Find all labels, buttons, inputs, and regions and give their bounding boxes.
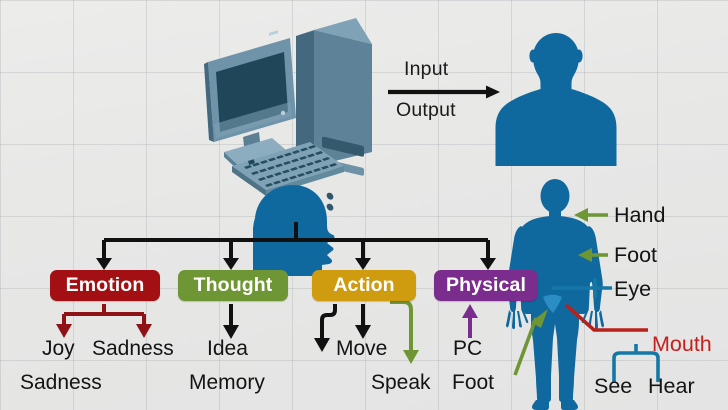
- desktop-computer-icon: [204, 17, 372, 211]
- leaf-idea: Idea: [207, 337, 248, 361]
- diagram-canvas: Input Output Emotion Thought Action Phys…: [0, 0, 728, 410]
- head-profile-silhouette-icon: [253, 185, 335, 276]
- output-label: Output: [396, 99, 456, 122]
- leaf-foot-left: Foot: [452, 371, 494, 395]
- connector-emotion-fork: [64, 304, 144, 324]
- leaf-joy: Joy: [42, 337, 75, 361]
- leaf-move: Move: [336, 337, 387, 361]
- connector-action-left: [322, 304, 335, 338]
- body-label-mouth: Mouth: [652, 332, 712, 357]
- connector-action-left-arrowhead: [314, 338, 330, 352]
- input-label: Input: [404, 58, 448, 81]
- body-label-see: See: [594, 374, 632, 399]
- body-label-hear: Hear: [648, 374, 695, 399]
- connector-action-speak: [390, 302, 411, 350]
- connector-emotion-arrowheads: [56, 324, 152, 338]
- io-arrow-icon: [388, 86, 500, 99]
- category-chip-physical[interactable]: Physical: [434, 270, 538, 301]
- body-label-eye: Eye: [614, 277, 651, 302]
- category-chip-emotion[interactable]: Emotion: [50, 270, 160, 301]
- leaf-speak: Speak: [371, 371, 431, 395]
- leaf-memory: Memory: [189, 371, 265, 395]
- category-chip-thought[interactable]: Thought: [178, 270, 288, 301]
- body-label-foot: Foot: [614, 243, 657, 268]
- body-label-hand: Hand: [614, 203, 665, 228]
- leaf-pc: PC: [453, 337, 482, 361]
- connector-action-speak-arrowhead: [403, 350, 419, 364]
- connector-pc-arrowhead: [462, 304, 478, 318]
- leaf-sadness-bottom: Sadness: [20, 371, 102, 395]
- leaf-sadness-top: Sadness: [92, 337, 174, 361]
- category-chip-action[interactable]: Action: [312, 270, 416, 301]
- person-bust-silhouette-icon: [496, 33, 617, 166]
- connector-foot-left: [515, 318, 536, 375]
